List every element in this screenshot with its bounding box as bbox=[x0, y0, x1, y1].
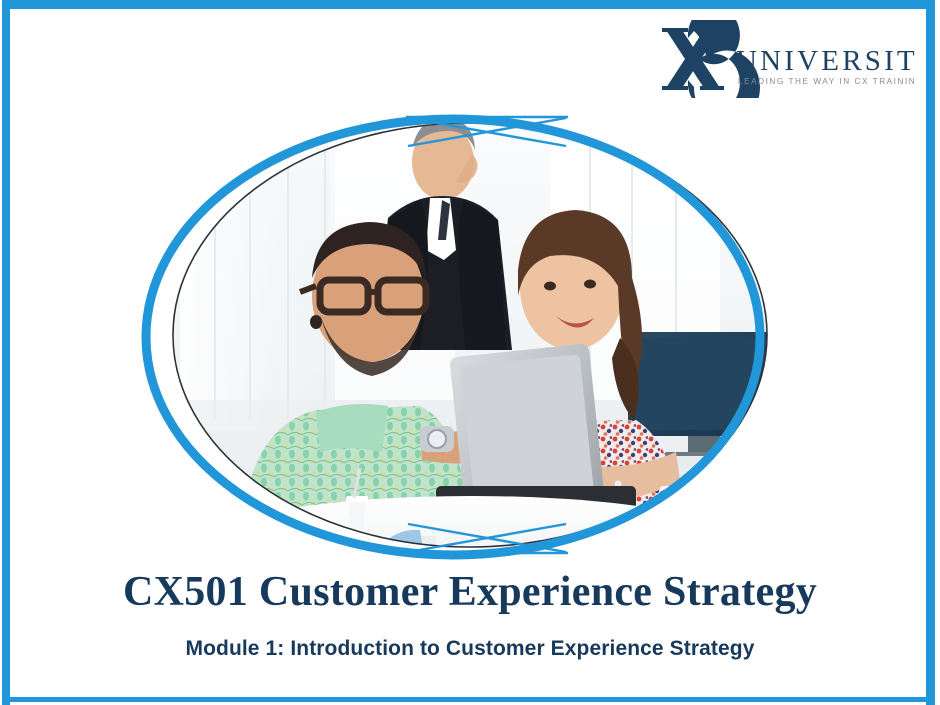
photo-plant bbox=[786, 383, 820, 432]
hero-image-oval bbox=[120, 100, 820, 570]
title-slide: UNIVERSITY LEADING THE WAY IN CX TRAININ… bbox=[0, 0, 940, 705]
logo-tagline: LEADING THE WAY IN CX TRAINING bbox=[738, 77, 915, 86]
page-subtitle: Module 1: Introduction to Customer Exper… bbox=[0, 637, 940, 661]
cx-university-logo: UNIVERSITY LEADING THE WAY IN CX TRAININ… bbox=[660, 20, 915, 98]
logo-wordmark: UNIVERSITY bbox=[736, 45, 915, 77]
frame-border-bottom bbox=[2, 697, 935, 702]
page-title: CX501 Customer Experience Strategy bbox=[0, 568, 940, 616]
frame-border-top bbox=[2, 0, 935, 9]
hero-photo bbox=[120, 100, 820, 570]
